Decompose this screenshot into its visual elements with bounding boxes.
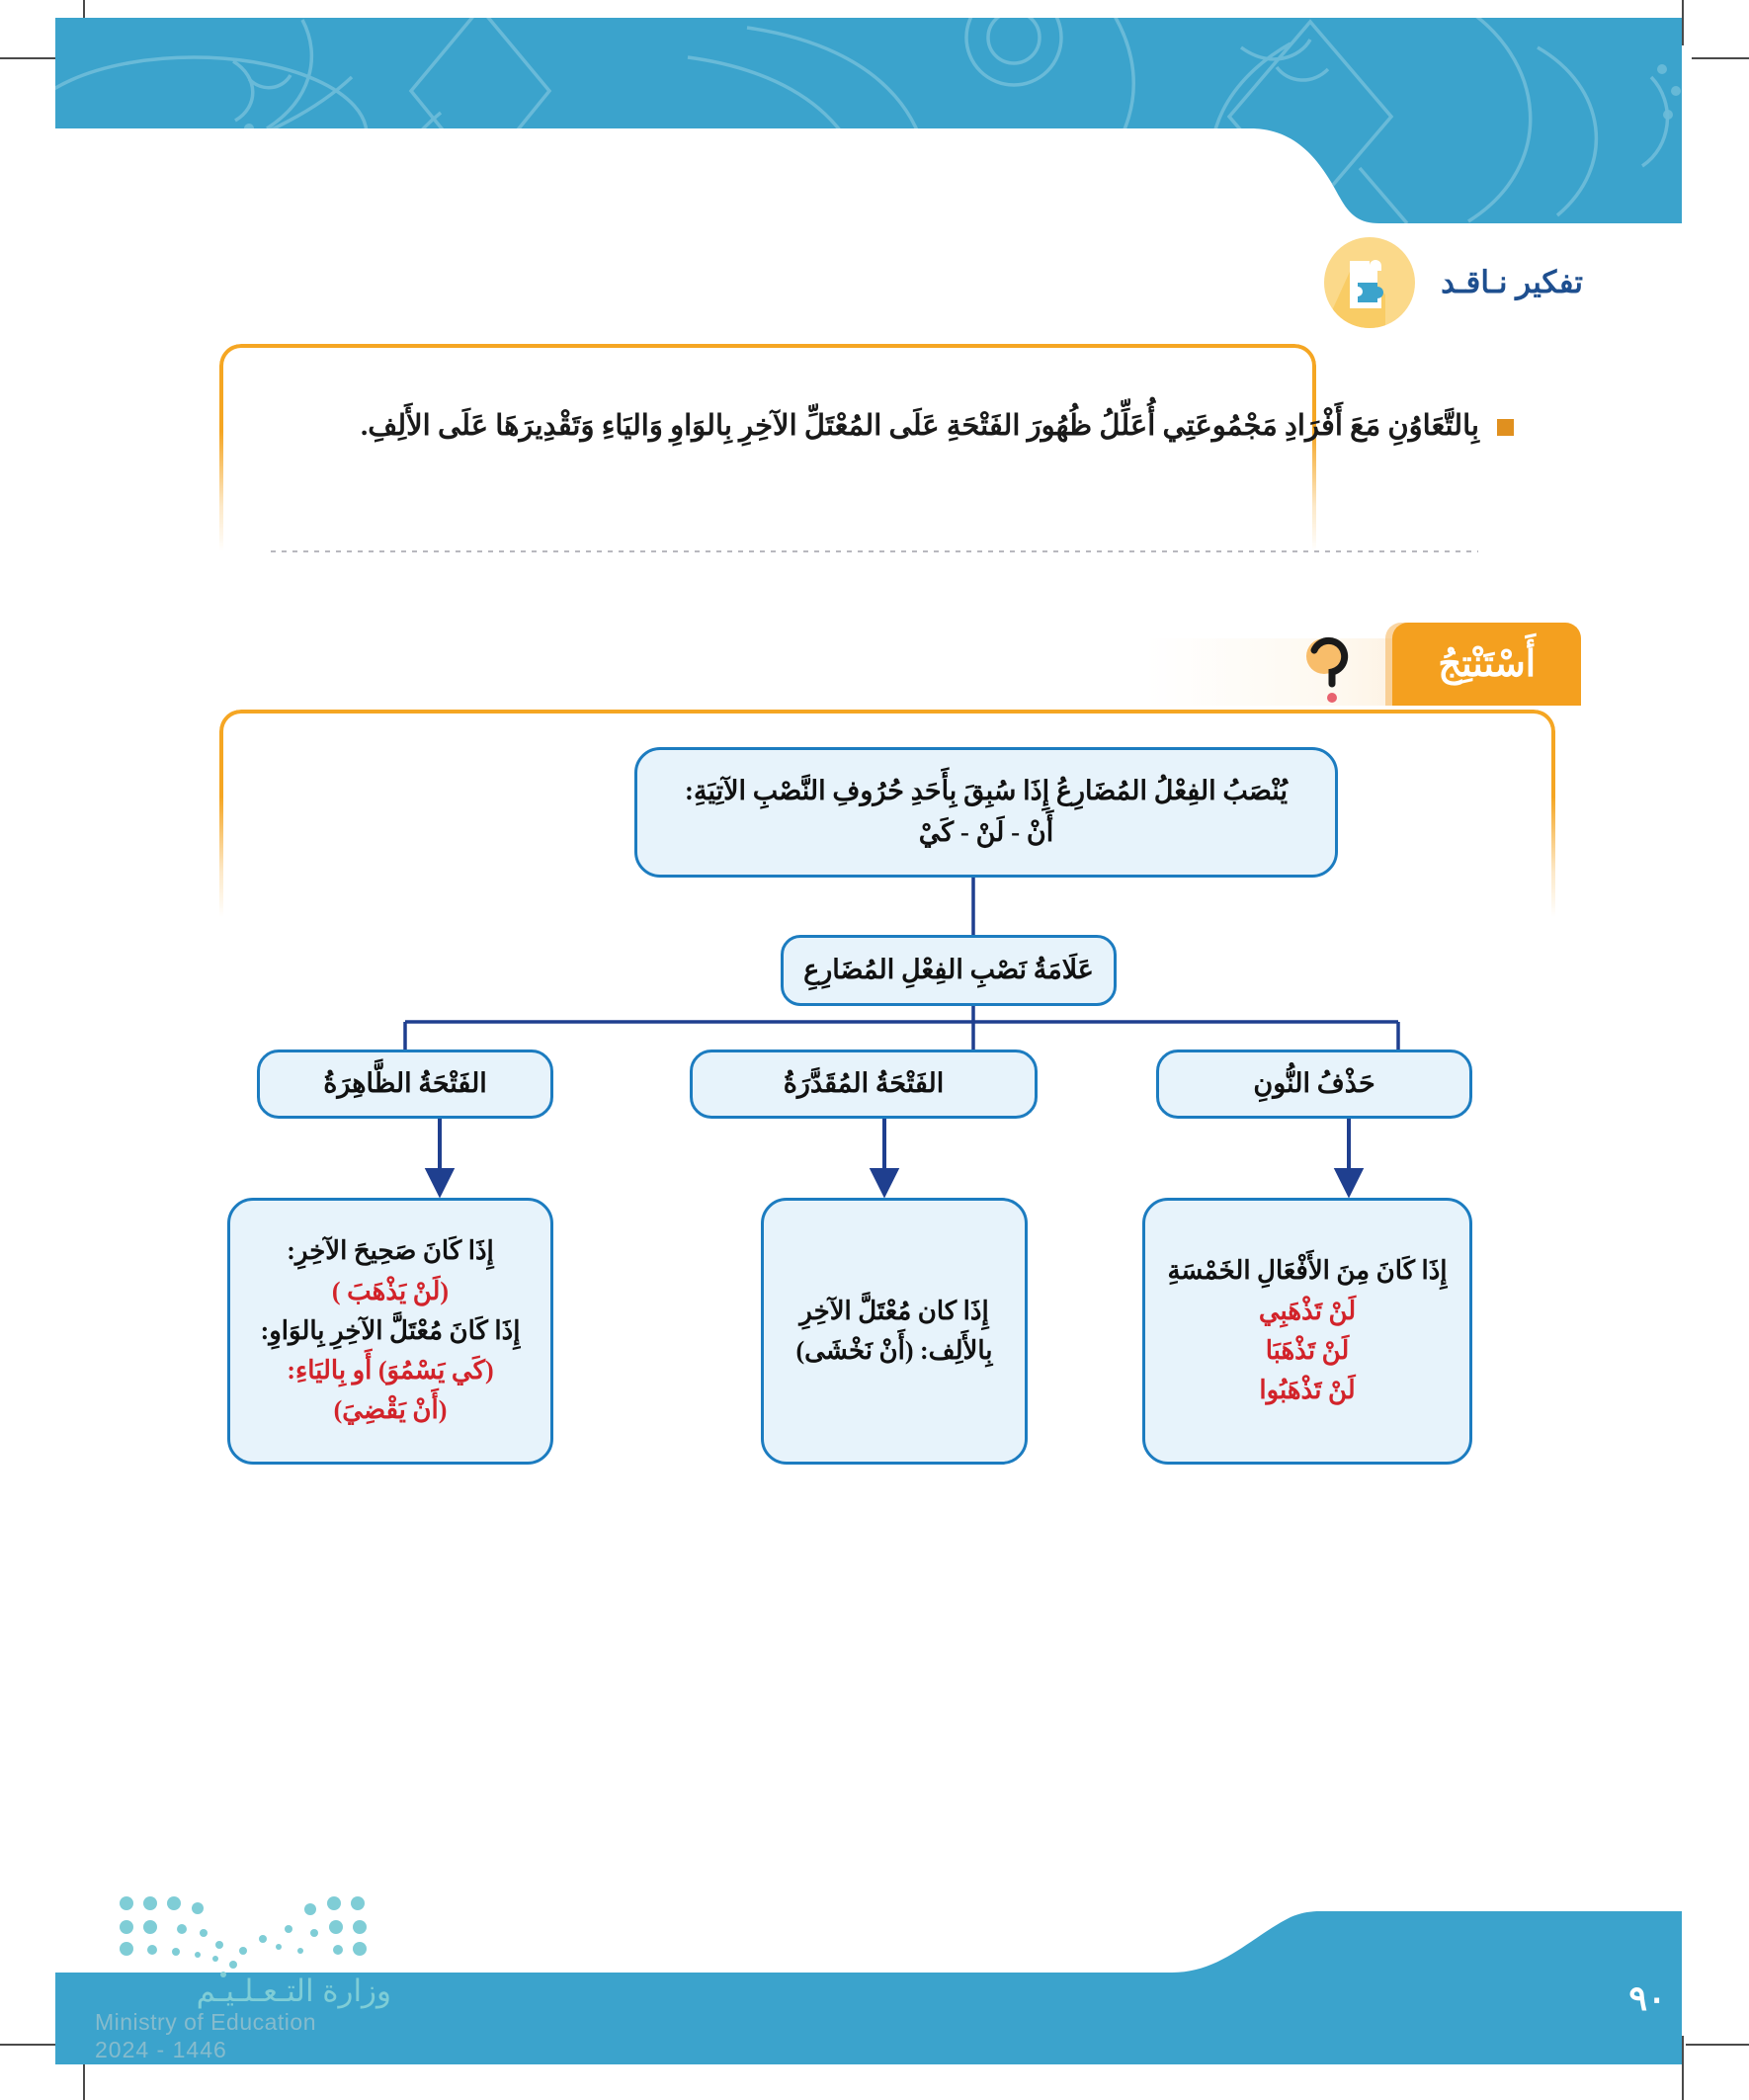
conclude-label: أَسْتَنْتِجُ bbox=[1438, 642, 1536, 686]
category-box-estimated-fatha: الفَتْحَةُ المُقَدَّرَةُ bbox=[690, 1050, 1038, 1119]
crop-mark-top-right-horizontal bbox=[1692, 57, 1749, 59]
detail-box-estimated-fatha: إِذَا كان مُعْتَلَّ الآخِرِ بِالأَلِف: (… bbox=[761, 1198, 1028, 1465]
section-divider bbox=[271, 549, 1478, 552]
sign-label: عَلَامَةُ نَصْبِ الفِعْلِ المُضَارِعِ bbox=[803, 950, 1094, 991]
crop-mark-top-left-horizontal bbox=[0, 57, 61, 59]
detail-box-apparent-fatha: إِذَا كَانَ صَحِيحَ الآخِرِ: (لَنْ يَذْه… bbox=[227, 1198, 553, 1465]
page-number: ٩٠ bbox=[1628, 1979, 1666, 2019]
category-box-apparent-fatha: الفَتْحَةُ الظَّاهِرَةُ bbox=[257, 1050, 553, 1119]
activity-item: بِالتَّعَاوُنِ مَعَ أَفْرَادِ مَجْمُوعَت… bbox=[239, 403, 1514, 449]
ministry-text-block: وزارة التـعـلـيـم Ministry of Education … bbox=[95, 1974, 391, 2063]
decorative-header-band bbox=[55, 18, 1682, 223]
detail1-line-1: إِذَا كَانَ صَحِيحَ الآخِرِ: bbox=[248, 1231, 533, 1271]
detail1-line-5: (أَنْ يَقْضِيَ) bbox=[248, 1390, 533, 1430]
category-label-1: الفَتْحَةُ الظَّاهِرَةُ bbox=[323, 1063, 487, 1105]
grammar-flowchart: يُنْصَبُ الفِعْلُ المُضَارِعُ إِذَا سُبِ… bbox=[277, 747, 1472, 1469]
category-label-3: حَذْفُ النُّونِ bbox=[1253, 1063, 1374, 1105]
detail2-line-2: بِالأَلِف: (أَنْ نَخْشَى) bbox=[782, 1331, 1007, 1371]
detail3-line-3: لَنْ تَذْهَبَا bbox=[1163, 1331, 1452, 1371]
detail3-line-4: لَنْ تَذْهَبُوا bbox=[1163, 1371, 1452, 1410]
critical-thinking-title: تفكير نـاقـد bbox=[1441, 265, 1583, 300]
crop-mark-bottom-right-vertical bbox=[1682, 2036, 1684, 2100]
detail1-line-3: إِذَا كَانَ مُعْتَلَّ الآخِرِ بِالوَاوِ: bbox=[248, 1311, 533, 1351]
root-line-1: يُنْصَبُ الفِعْلُ المُضَارِعُ إِذَا سُبِ… bbox=[655, 771, 1317, 812]
square-bullet-icon bbox=[1497, 419, 1514, 436]
detail1-line-2: (لَنْ يَذْهَبَ ) bbox=[248, 1272, 533, 1311]
root-line-2: أَنْ - لَنْ - كَيْ bbox=[655, 812, 1317, 854]
ministry-name-arabic: وزارة التـعـلـيـم bbox=[95, 1974, 391, 2008]
critical-thinking-heading: تفكير نـاقـد bbox=[1324, 237, 1583, 328]
category-label-2: الفَتْحَةُ المُقَدَّرَةُ bbox=[784, 1063, 945, 1105]
category-box-nun-deletion: حَذْفُ النُّونِ bbox=[1156, 1050, 1472, 1119]
flowchart-sign-box: عَلَامَةُ نَصْبِ الفِعْلِ المُضَارِعِ bbox=[781, 935, 1117, 1006]
puzzle-piece-icon bbox=[1324, 237, 1415, 328]
detail3-line-2: لَنْ تَذْهَبِي bbox=[1163, 1292, 1452, 1331]
conclude-tab-body: أَسْتَنْتِجُ bbox=[1392, 623, 1581, 706]
conclude-section-tab: أَسْتَنْتِجُ bbox=[1392, 623, 1581, 706]
detail-box-nun-deletion: إِذَا كَانَ مِنَ الأَفْعَالِ الخَمْسَةِ … bbox=[1142, 1198, 1472, 1465]
ministry-year: 2024 - 1446 bbox=[95, 2037, 391, 2063]
activity-text: بِالتَّعَاوُنِ مَعَ أَفْرَادِ مَجْمُوعَت… bbox=[361, 403, 1479, 449]
detail1-line-4: (كَي يَسْمُوَ) أَو بِاليَاءِ: bbox=[248, 1351, 533, 1390]
crop-mark-bottom-left-horizontal bbox=[0, 2044, 61, 2046]
crop-mark-bottom-right-horizontal bbox=[1686, 2044, 1749, 2046]
question-mark-icon bbox=[1300, 630, 1362, 706]
textbook-page: تفكير نـاقـد بِالتَّعَاوُنِ مَعَ أَفْرَا… bbox=[0, 0, 1749, 2100]
ministry-name-english: Ministry of Education bbox=[95, 2008, 391, 2037]
flowchart-root-box: يُنْصَبُ الفِعْلُ المُضَارِعُ إِذَا سُبِ… bbox=[634, 747, 1338, 878]
detail3-line-1: إِذَا كَانَ مِنَ الأَفْعَالِ الخَمْسَةِ bbox=[1163, 1251, 1452, 1291]
detail2-line-1: إِذَا كان مُعْتَلَّ الآخِرِ bbox=[782, 1292, 1007, 1331]
crop-mark-top-right-vertical bbox=[1682, 0, 1684, 45]
